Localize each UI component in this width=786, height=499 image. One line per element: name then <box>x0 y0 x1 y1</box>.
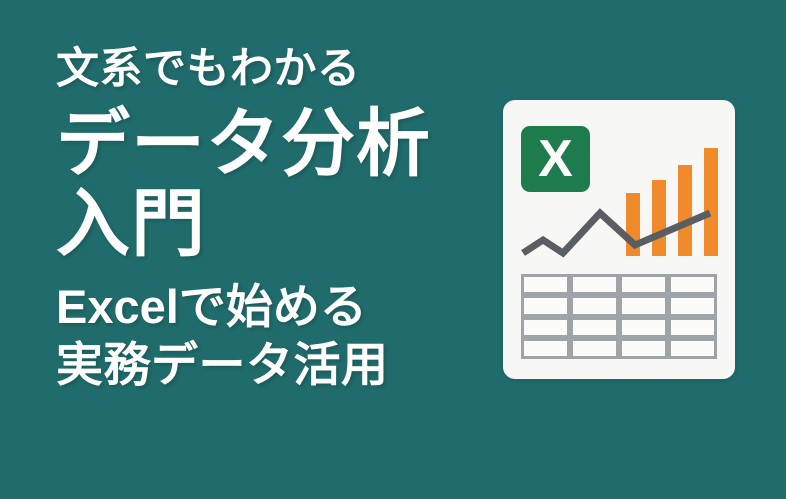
table-row <box>521 295 717 316</box>
table-cell <box>521 295 570 316</box>
table-row <box>521 317 717 338</box>
table-cell <box>619 317 668 338</box>
table-cell <box>570 295 619 316</box>
poster-title-line-2: 入門 <box>56 184 476 264</box>
table-cell <box>619 295 668 316</box>
chart-bar <box>652 180 666 256</box>
table-cell <box>521 338 570 359</box>
chart-bar <box>678 165 692 256</box>
table-cell <box>668 317 717 338</box>
spreadsheet-table <box>521 274 717 359</box>
poster-text-block: 文系でもわかる データ分析 入門 Excelで始める 実務データ活用 <box>56 44 476 394</box>
poster-title-line-1: データ分析 <box>56 104 476 184</box>
table-cell <box>619 338 668 359</box>
table-row <box>521 274 717 295</box>
table-cell <box>619 274 668 295</box>
table-cell <box>521 317 570 338</box>
table-cell <box>668 295 717 316</box>
poster-subtitle-line-2: 実務データ活用 <box>56 336 476 394</box>
table-cell <box>570 317 619 338</box>
table-row <box>521 338 717 359</box>
poster-canvas: 文系でもわかる データ分析 入門 Excelで始める 実務データ活用 X <box>0 0 786 499</box>
table-cell <box>668 274 717 295</box>
chart-bar <box>704 148 718 256</box>
excel-illustration-card: X <box>503 100 735 379</box>
poster-kicker: 文系でもわかる <box>56 44 476 94</box>
table-cell <box>570 338 619 359</box>
table-cell <box>570 274 619 295</box>
spreadsheet-grid <box>521 274 717 359</box>
table-cell <box>668 338 717 359</box>
poster-subtitle-line-1: Excelで始める <box>56 278 476 336</box>
table-cell <box>521 274 570 295</box>
